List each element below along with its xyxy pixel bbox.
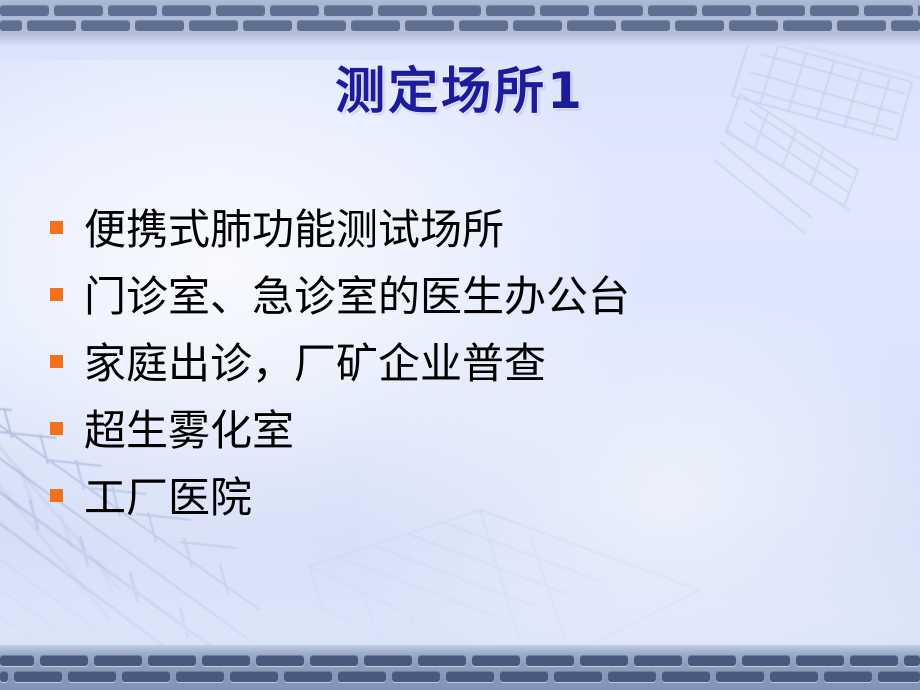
brick [526, 655, 574, 666]
brick [27, 20, 76, 31]
brick [837, 20, 886, 31]
brick [904, 655, 920, 666]
square-bullet-icon [50, 288, 63, 301]
brick [824, 671, 872, 682]
brick [310, 655, 358, 666]
list-item[interactable]: 家庭出诊，厂矿企业普查 [50, 336, 890, 403]
brick [216, 5, 265, 16]
list-item[interactable]: 工厂医院 [50, 470, 890, 537]
brick [742, 655, 790, 666]
brick-row-top-1 [0, 5, 920, 16]
brick [284, 671, 332, 682]
brick [378, 5, 427, 16]
top-brick-border [0, 0, 920, 46]
brick [432, 5, 481, 16]
brick [202, 655, 250, 666]
list-item-label: 家庭出诊，厂矿企业普查 [84, 336, 890, 392]
brick [513, 20, 562, 31]
brick [446, 671, 494, 682]
brick [891, 20, 920, 31]
brick [864, 5, 913, 16]
brick [500, 671, 548, 682]
brick [878, 671, 920, 682]
brick [297, 20, 346, 31]
brick [14, 671, 62, 682]
brick [567, 20, 616, 31]
brick [364, 655, 412, 666]
brick [256, 655, 304, 666]
brick [243, 20, 292, 31]
brick [54, 5, 103, 16]
bottom-brick-border [0, 645, 920, 690]
square-bullet-icon [50, 221, 63, 234]
brick [634, 655, 682, 666]
brick [270, 5, 319, 16]
brick [810, 5, 859, 16]
brick [108, 5, 157, 16]
brick [418, 655, 466, 666]
brick [230, 671, 278, 682]
brick-row-bottom-2 [0, 671, 920, 682]
brick [675, 20, 724, 31]
brick [472, 655, 520, 666]
brick [0, 20, 22, 31]
brick [392, 671, 440, 682]
list-item[interactable]: 超生雾化室 [50, 403, 890, 470]
list-item-label: 工厂医院 [84, 470, 890, 526]
brick [850, 655, 898, 666]
list-item[interactable]: 门诊室、急诊室的医生办公台 [50, 269, 890, 336]
brick [716, 671, 764, 682]
brick [324, 5, 373, 16]
brick [338, 671, 386, 682]
brick [688, 655, 736, 666]
brick [68, 671, 116, 682]
slide-title: 测定场所1 [335, 62, 585, 120]
brick [40, 655, 88, 666]
brick [796, 655, 844, 666]
bullet-list: 便携式肺功能测试场所 门诊室、急诊室的医生办公台 家庭出诊，厂矿企业普查 超生雾… [50, 202, 890, 537]
brick [756, 5, 805, 16]
brick [621, 20, 670, 31]
slide-canvas: 测定场所1 便携式肺功能测试场所 门诊室、急诊室的医生办公台 家庭出诊，厂矿企业… [0, 0, 920, 690]
square-bullet-icon [50, 422, 63, 435]
square-bullet-icon [50, 489, 63, 502]
brick [122, 671, 170, 682]
brick-row-bottom-1 [0, 655, 920, 666]
brick [405, 20, 454, 31]
list-item-label: 超生雾化室 [84, 403, 890, 459]
brick [594, 5, 643, 16]
brick [162, 5, 211, 16]
square-bullet-icon [50, 355, 63, 368]
brick [662, 671, 710, 682]
brick [608, 671, 656, 682]
slide-title-block: 测定场所1 [0, 62, 920, 120]
brick [648, 5, 697, 16]
brick [148, 655, 196, 666]
brick [459, 20, 508, 31]
brick [770, 671, 818, 682]
list-item-label: 便携式肺功能测试场所 [84, 202, 890, 258]
list-item[interactable]: 便携式肺功能测试场所 [50, 202, 890, 269]
brick [554, 671, 602, 682]
brick [176, 671, 224, 682]
brick [351, 20, 400, 31]
brick [189, 20, 238, 31]
brick [0, 5, 49, 16]
brick [135, 20, 184, 31]
brick [94, 655, 142, 666]
brick [81, 20, 130, 31]
brick [486, 5, 535, 16]
brick [702, 5, 751, 16]
brick [540, 5, 589, 16]
brick [580, 655, 628, 666]
brick [0, 671, 8, 682]
list-item-label: 门诊室、急诊室的医生办公台 [84, 269, 890, 325]
brick-row-top-2 [0, 20, 920, 31]
brick [0, 655, 34, 666]
brick [783, 20, 832, 31]
brick [729, 20, 778, 31]
